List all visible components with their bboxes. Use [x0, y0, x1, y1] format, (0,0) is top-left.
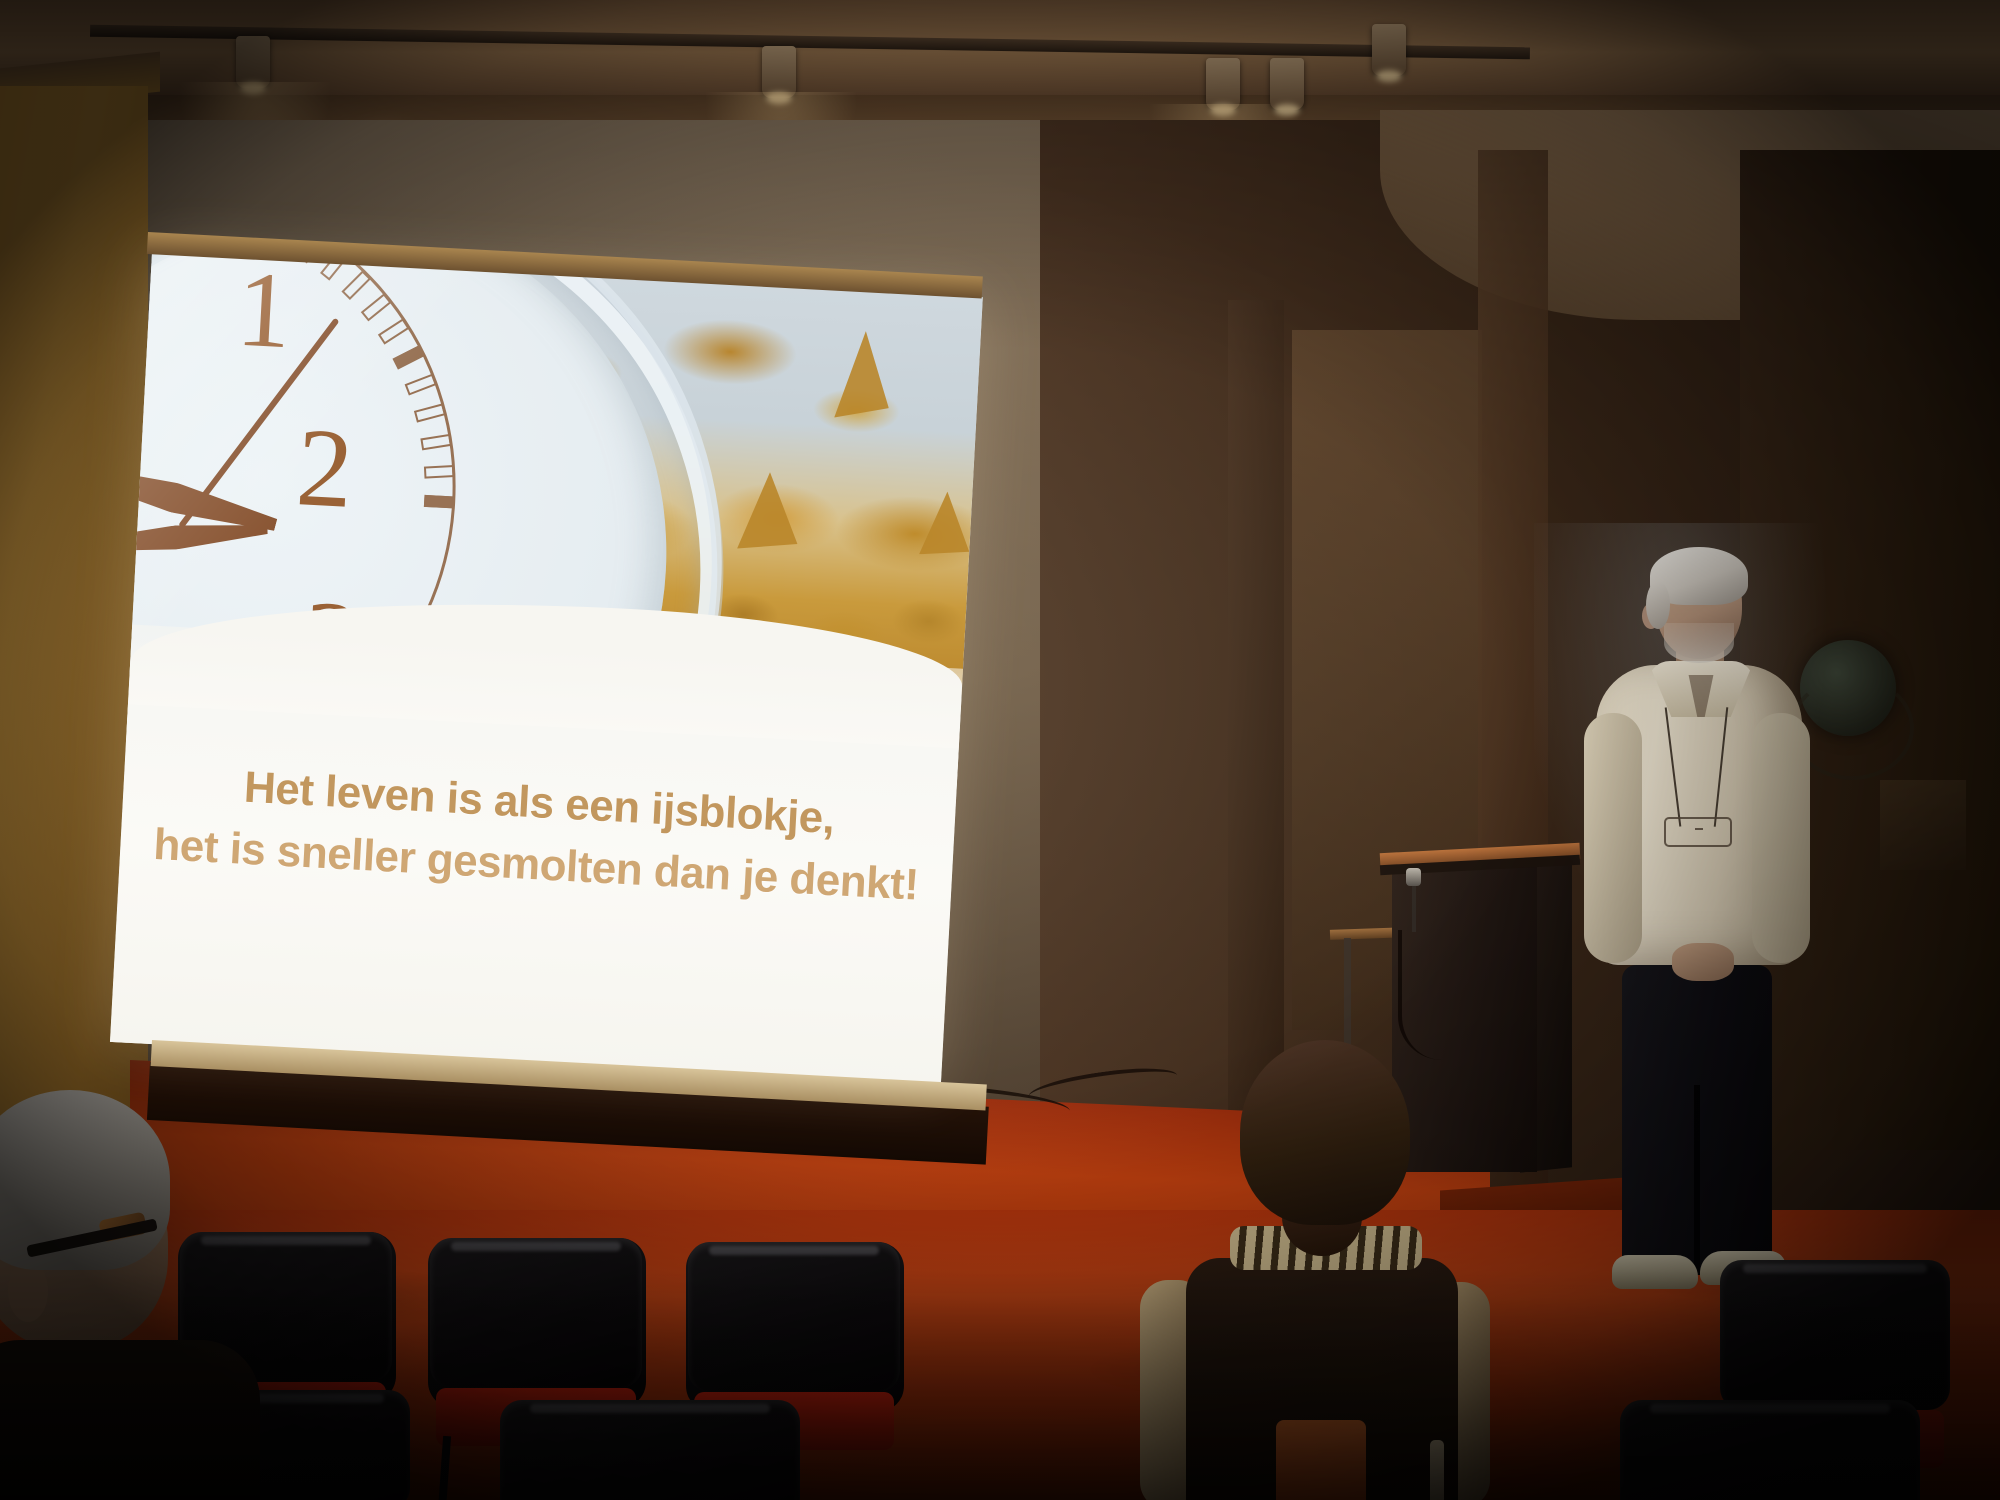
track-light-icon — [1270, 58, 1304, 110]
audience-member-man — [0, 1090, 230, 1500]
presenter — [1560, 545, 1810, 1295]
presenter-shoe-left — [1612, 1255, 1698, 1289]
woman-scarf — [1276, 1420, 1366, 1500]
chair[interactable] — [500, 1400, 800, 1500]
presenter-beard — [1664, 623, 1734, 663]
presenter-hands — [1672, 943, 1734, 981]
presenter-arm-right — [1752, 713, 1810, 963]
woman-hair — [1240, 1040, 1410, 1225]
chair-backrest — [500, 1400, 800, 1500]
microphone-stem — [1412, 878, 1416, 932]
right-wall-column — [1228, 300, 1284, 1130]
wall-panel — [1880, 780, 1966, 870]
bag-strap — [1430, 1440, 1444, 1500]
presentation-room-photo: 12 1 2 3 TIMEX Het leven is als een ijsb… — [0, 0, 2000, 1500]
glasses-icon — [1664, 817, 1732, 847]
track-light-icon — [1206, 58, 1240, 110]
projection-screen: 12 1 2 3 TIMEX Het leven is als een ijsb… — [110, 253, 983, 1086]
track-light-icon — [762, 46, 796, 98]
presenter-leg-gap — [1694, 1085, 1700, 1275]
chair-backrest — [1620, 1400, 1920, 1500]
chair-backrest — [430, 1238, 642, 1388]
chair[interactable] — [1620, 1400, 1920, 1500]
chair-backrest — [688, 1242, 900, 1392]
audience-member-woman — [1130, 1030, 1490, 1500]
man-shoulders — [0, 1340, 260, 1500]
presenter-hair-side — [1646, 581, 1670, 629]
microphone-icon — [1406, 868, 1421, 886]
presenter-arm-left — [1584, 713, 1642, 963]
track-light-icon — [1372, 24, 1406, 76]
chair-backrest — [1720, 1260, 1950, 1410]
track-light-icon — [236, 36, 270, 88]
